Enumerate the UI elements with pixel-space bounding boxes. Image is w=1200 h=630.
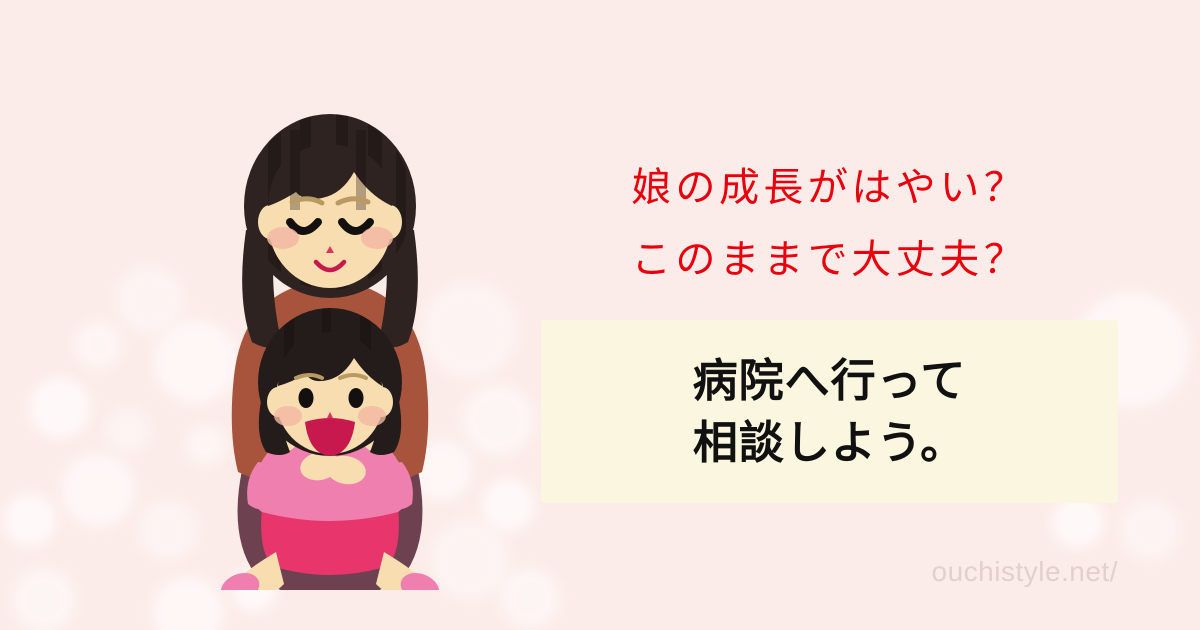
headline: 娘の成長がはやい？ このままで大丈夫？: [541, 152, 1118, 296]
headline-line-2: このままで大丈夫？: [540, 224, 1120, 296]
mother-daughter-illustration: [150, 110, 510, 590]
callout-box: 病院へ行って 相談しよう。: [541, 320, 1118, 503]
bokeh-circle: [106, 408, 150, 452]
callout-line-1: 病院へ行って: [693, 350, 967, 412]
bokeh-circle: [4, 494, 56, 546]
headline-line-1: 娘の成長がはやい？: [540, 152, 1120, 224]
site-url-watermark: ouchistyle.net/: [880, 556, 1118, 588]
bokeh-circle: [1052, 496, 1104, 548]
promo-banner: 娘の成長がはやい？ このままで大丈夫？ 病院へ行って 相談しよう。 ouchis…: [0, 0, 1200, 630]
bokeh-circle: [12, 568, 76, 630]
bokeh-circle: [30, 378, 90, 438]
callout-line-2: 相談しよう。: [693, 412, 966, 474]
bokeh-circle: [61, 453, 135, 527]
bokeh-circle: [74, 321, 122, 369]
bokeh-circle: [1120, 500, 1180, 560]
